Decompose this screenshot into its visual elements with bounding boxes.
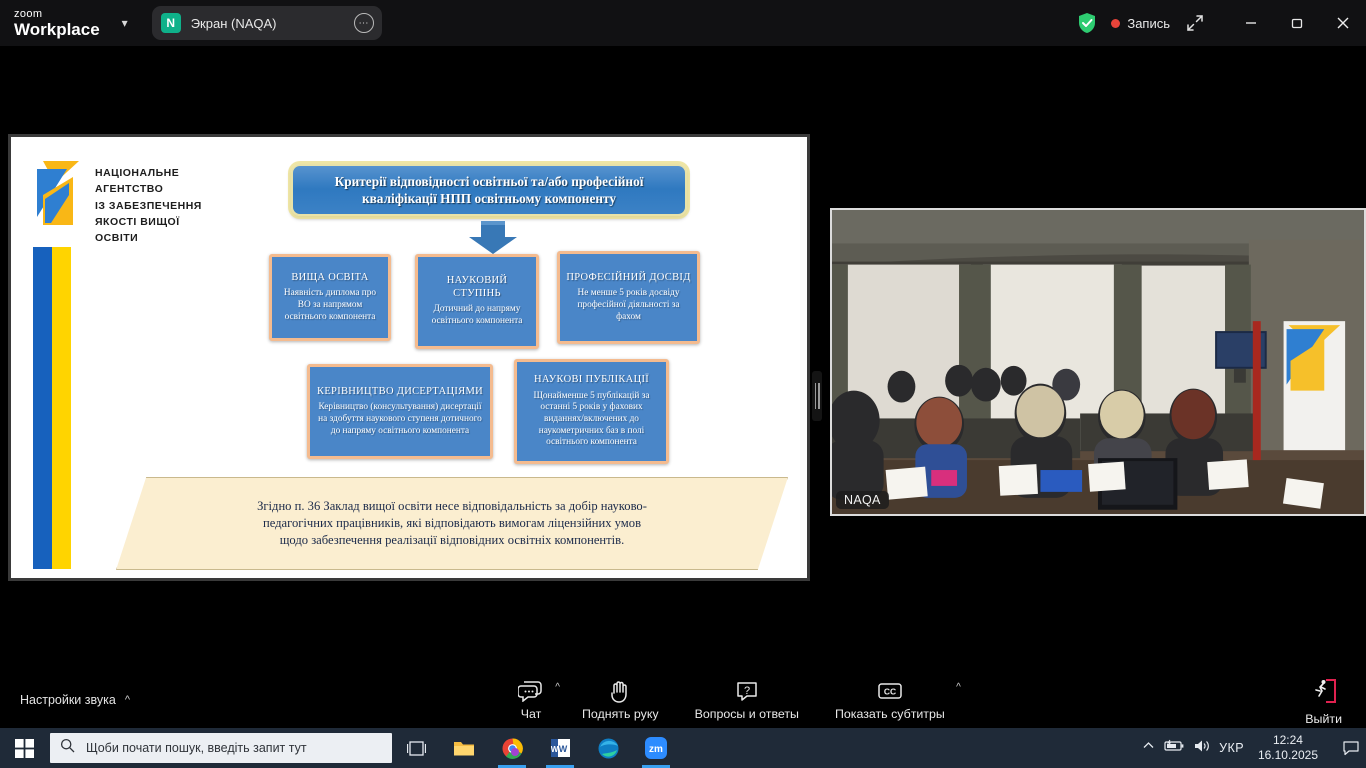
zoom-logo-line2: Workplace (14, 21, 100, 38)
naqa-logo-icon (33, 155, 87, 231)
naqa-logo-text: НАЦІОНАЛЬНЕ АГЕНТСТВО ІЗ ЗАБЕЗПЕЧЕННЯ ЯК… (95, 165, 208, 246)
svg-text:W: W (551, 745, 559, 754)
flag-yellow (52, 247, 71, 569)
card-professional-experience: ПРОФЕСІЙНИЙ ДОСВІД Не менше 5 років досв… (557, 251, 700, 344)
svg-text:CC: CC (884, 687, 896, 697)
card-body: Наявність диплома про ВО за напрямом осв… (278, 288, 382, 323)
search-placeholder: Щоби почати пошук, введіть запит тут (86, 741, 307, 755)
word-icon[interactable]: WW (536, 728, 584, 768)
ukraine-flag-bar (33, 247, 71, 569)
leave-label: Выйти (1305, 712, 1342, 726)
record-dot-icon (1111, 19, 1120, 28)
toolbar-center-group: Чат ^ Поднять руку ? Вопросы и ответы CC… (506, 672, 957, 728)
chat-bubble-icon (518, 678, 544, 704)
card-scientific-publications: НАУКОВІ ПУБЛІКАЦІЇ Щонайменше 5 публікац… (514, 359, 669, 464)
slide-title-box: Критерії відповідності освітньої та/або … (291, 164, 687, 216)
participant-name-badge: NAQA (836, 491, 889, 509)
notification-icon[interactable] (1336, 741, 1366, 756)
question-bubble-icon: ? (735, 678, 759, 704)
search-input[interactable]: Щоби почати пошук, введіть запит тут (50, 733, 392, 763)
card-body: Щонайменше 5 публікацій за останні 5 рок… (523, 391, 660, 449)
slide-note-banner: Згідно п. 36 Заклад вищої освіти несе ві… (116, 477, 788, 570)
search-icon (60, 738, 75, 758)
video-frame (832, 210, 1364, 516)
close-icon[interactable] (1320, 0, 1366, 46)
shared-screen-slide[interactable]: НАЦІОНАЛЬНЕ АГЕНТСТВО ІЗ ЗАБЕЗПЕЧЕННЯ ЯК… (8, 134, 810, 581)
chat-button[interactable]: Чат ^ (506, 672, 556, 721)
windows-start-icon[interactable] (0, 728, 48, 768)
captions-button[interactable]: CC Показать субтитры ^ (823, 672, 957, 721)
zoom-logo: zoom Workplace (14, 9, 100, 38)
down-arrow-icon (463, 221, 523, 255)
svg-text:zm: zm (649, 744, 663, 755)
naqa-logo: НАЦІОНАЛЬНЕ АГЕНТСТВО ІЗ ЗАБЕЗПЕЧЕННЯ ЯК… (33, 153, 208, 238)
participant-video-tile[interactable]: NAQA (830, 208, 1366, 516)
shield-check-icon[interactable] (1077, 12, 1097, 34)
clock-date: 16.10.2025 (1258, 748, 1318, 762)
raise-hand-button[interactable]: Поднять руку (570, 672, 671, 721)
zoom-title-bar: zoom Workplace ▾ N Экран (NAQA) ⋯ Запись (0, 0, 1366, 46)
card-body: Дотичний до напряму освітнього компонент… (424, 304, 530, 327)
audio-settings-label: Настройки звука (20, 693, 116, 707)
svg-text:?: ? (744, 685, 750, 697)
zoom-icon[interactable]: zm (632, 728, 680, 768)
windows-taskbar: Щоби почати пошук, введіть запит тут WW … (0, 728, 1366, 768)
speaker-icon[interactable] (1193, 739, 1211, 758)
language-indicator[interactable]: УКР (1219, 741, 1244, 755)
folder-icon[interactable] (440, 728, 488, 768)
drag-handle-icon[interactable] (812, 371, 822, 421)
zoom-meeting-toolbar: Настройки звука ^ Чат ^ Поднять руку ? В… (0, 672, 1366, 728)
flag-blue (33, 247, 52, 569)
card-scientific-degree: НАУКОВИЙ СТУПІНЬ Дотичний до напряму осв… (415, 254, 539, 349)
raise-hand-label: Поднять руку (582, 707, 659, 721)
card-heading: ПРОФЕСІЙНИЙ ДОСВІД (566, 272, 690, 285)
card-higher-education: ВИЩА ОСВІТА Наявність диплома про ВО за … (269, 254, 391, 341)
recording-indicator[interactable]: Запись (1111, 16, 1170, 31)
captions-label: Показать субтитры (835, 707, 945, 721)
raised-hand-icon (609, 678, 631, 704)
qa-label: Вопросы и ответы (695, 707, 799, 721)
leave-door-icon (1310, 678, 1338, 709)
chevron-up-icon[interactable]: ^ (125, 694, 130, 706)
participant-avatar: N (161, 13, 181, 33)
card-heading: КЕРІВНИЦТВО ДИСЕРТАЦІЯМИ (317, 386, 483, 399)
card-heading: ВИЩА ОСВІТА (291, 272, 368, 285)
closed-captions-icon: CC (877, 678, 903, 704)
svg-text:W: W (558, 744, 567, 754)
card-dissertation-supervision: КЕРІВНИЦТВО ДИСЕРТАЦІЯМИ Керівництво (ко… (307, 364, 493, 459)
qa-button[interactable]: ? Вопросы и ответы (683, 672, 811, 721)
meeting-stage: НАЦІОНАЛЬНЕ АГЕНТСТВО ІЗ ЗАБЕЗПЕЧЕННЯ ЯК… (0, 46, 1366, 672)
audio-settings-button[interactable]: Настройки звука ^ (20, 693, 130, 707)
card-body: Керівництво (консультування) дисертації … (316, 402, 484, 437)
chevron-up-icon[interactable] (1142, 739, 1155, 757)
share-pill-label: Экран (NAQA) (191, 16, 354, 31)
system-tray: УКР 12:24 16.10.2025 (1134, 728, 1366, 768)
slide-title: Критерії відповідності освітньої та/або … (293, 173, 685, 207)
zoom-logo-line1: zoom (14, 9, 100, 20)
slide-note-text: Згідно п. 36 Заклад вищої освіти несе ві… (252, 498, 652, 548)
window-controls: Запись (1077, 0, 1366, 46)
chevron-down-icon[interactable]: ▾ (122, 16, 128, 30)
leave-meeting-button[interactable]: Выйти (1305, 672, 1342, 728)
expand-icon[interactable] (1186, 14, 1204, 32)
card-body: Не менше 5 років досвіду професійної дія… (566, 288, 691, 323)
clock-time: 12:24 (1273, 733, 1303, 747)
card-heading: НАУКОВІ ПУБЛІКАЦІЇ (534, 374, 649, 387)
task-view-icon[interactable] (392, 728, 440, 768)
chevron-up-icon[interactable]: ^ (956, 682, 961, 693)
recording-label: Запись (1127, 16, 1170, 31)
battery-charging-icon[interactable] (1163, 739, 1185, 757)
clock[interactable]: 12:24 16.10.2025 (1258, 733, 1318, 764)
chevron-up-icon[interactable]: ^ (555, 682, 560, 693)
screen-share-pill[interactable]: N Экран (NAQA) ⋯ (152, 6, 382, 40)
card-heading: НАУКОВИЙ СТУПІНЬ (424, 275, 530, 300)
minimize-icon[interactable] (1228, 0, 1274, 46)
restore-icon[interactable] (1274, 0, 1320, 46)
chat-label: Чат (521, 707, 542, 721)
chrome-icon[interactable] (488, 728, 536, 768)
more-options-icon[interactable]: ⋯ (354, 13, 374, 33)
edge-icon[interactable] (584, 728, 632, 768)
